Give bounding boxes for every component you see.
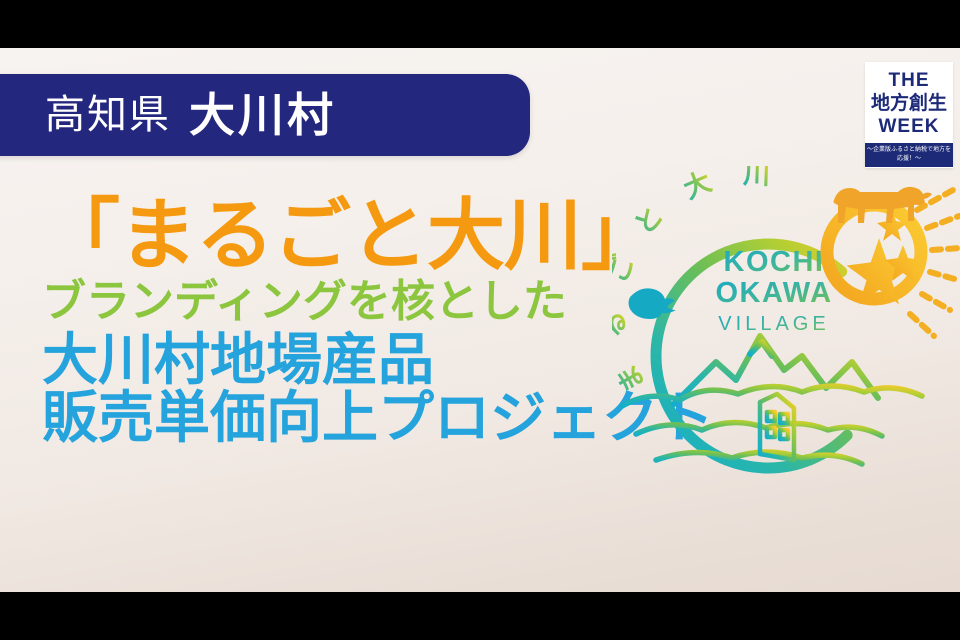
prefecture-banner: 高知県 大川村 bbox=[0, 74, 530, 156]
slide-stage: 高知県 大川村 「まるごと大川」 ブランディングを核とした 大川村地場産品 販売… bbox=[0, 48, 960, 592]
badge-footer-text: 〜企業版ふるさと納税で地方を応援！〜 bbox=[865, 143, 953, 167]
svg-text:KOCHI: KOCHI bbox=[724, 246, 825, 278]
svg-text:ま: ま bbox=[612, 359, 651, 397]
logo-center-text: KOCHI OKAWA VILLAGE bbox=[715, 246, 832, 335]
badge-week-label: WEEK bbox=[879, 117, 940, 136]
svg-text:VILLAGE: VILLAGE bbox=[718, 313, 829, 335]
letterbox-bar-top bbox=[0, 0, 960, 48]
svg-text:る: る bbox=[612, 310, 631, 340]
marugoto-okawa-logo: ま る ご と 大 川 KOCHI OKAWA VILLAGE bbox=[612, 166, 960, 496]
svg-text:川: 川 bbox=[743, 166, 771, 190]
presentation-slide: 高知県 大川村 「まるごと大川」 ブランディングを核とした 大川村地場産品 販売… bbox=[0, 0, 960, 640]
svg-text:大: 大 bbox=[679, 166, 716, 204]
badge-japanese-label: 地方創生 bbox=[871, 94, 947, 113]
event-badge: THE 地方創生 WEEK 〜企業版ふるさと納税で地方を応援！〜 bbox=[865, 62, 953, 168]
svg-text:ご: ご bbox=[612, 251, 639, 286]
badge-the-label: THE bbox=[889, 71, 930, 90]
svg-text:OKAWA: OKAWA bbox=[715, 277, 832, 309]
prefecture-label: 高知県 bbox=[45, 95, 171, 135]
svg-text:と: と bbox=[629, 200, 669, 240]
village-label: 大川村 bbox=[189, 92, 336, 138]
letterbox-bar-bottom bbox=[0, 592, 960, 640]
